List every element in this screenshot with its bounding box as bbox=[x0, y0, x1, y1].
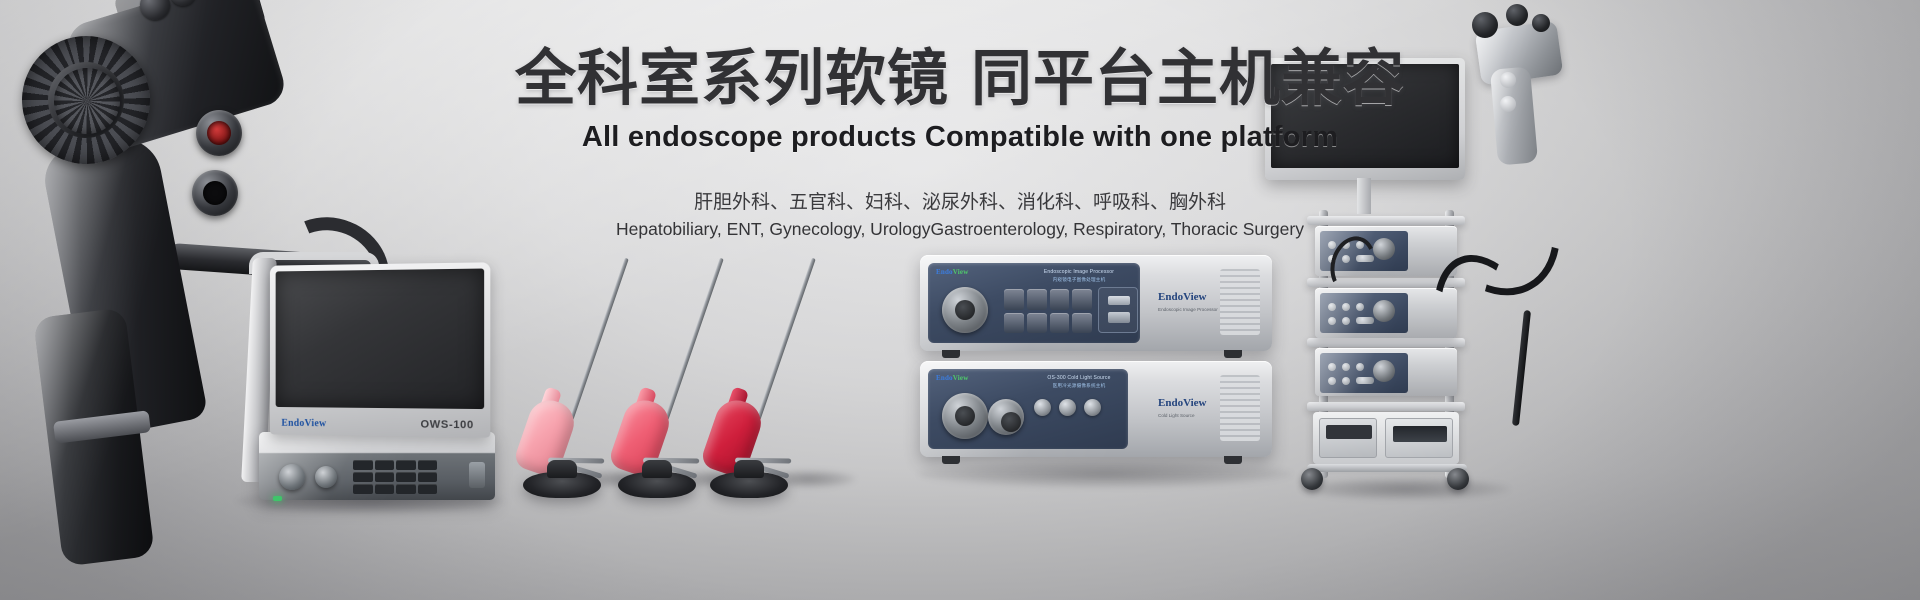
endoscope-knob-3 bbox=[1532, 14, 1550, 32]
processor-main-dial bbox=[942, 287, 988, 333]
processor-stack: EndoView Endoscopic Image Processor 内窥镜电… bbox=[920, 255, 1280, 475]
brand-endo-text: Endo bbox=[936, 268, 953, 276]
light-source-brightness-dial bbox=[988, 399, 1024, 435]
light-source-vent-grille bbox=[1220, 375, 1260, 441]
image-processor-unit: EndoView Endoscopic Image Processor 内窥镜电… bbox=[920, 255, 1272, 351]
instrument-display-stand bbox=[710, 472, 788, 498]
processor-panel-title-cn: 内窥镜电子图像处理主机 bbox=[1024, 277, 1134, 284]
departments-english: Hepatobiliary, ENT, Gynecology, UrologyG… bbox=[0, 219, 1920, 240]
tower-caster-left bbox=[1301, 468, 1323, 490]
tower-unit-3-dial bbox=[1373, 360, 1395, 382]
light-source-side-subtitle: Cold Light Source bbox=[1158, 413, 1195, 420]
headline-part-1: 全科室系列软镜 bbox=[515, 44, 949, 112]
workstation-brand-logo: EndoView bbox=[281, 418, 326, 429]
endoscope-knob-1 bbox=[1472, 12, 1498, 38]
page-subtitle: All endoscope products Compatible with o… bbox=[0, 121, 1920, 154]
departments-chinese: 肝胆外科、五官科、妇科、泌尿外科、消化科、呼吸科、胸外科 bbox=[0, 187, 1920, 214]
light-source-panel-title-cn: 医用冷光源摄像系统主机 bbox=[1024, 383, 1134, 390]
workstation-model-label: OWS-100 bbox=[420, 419, 473, 432]
instrument-display-stand bbox=[523, 472, 601, 498]
light-source-unit: EndoView OS-300 Cold Light Source 医用冷光源摄… bbox=[920, 361, 1272, 457]
endoscope-knob-2 bbox=[1506, 4, 1528, 26]
headline-part-2: 同平台主机兼容 bbox=[971, 44, 1405, 112]
light-source-button-row bbox=[1034, 399, 1101, 416]
page-title: 全科室系列软镜同平台主机兼容 bbox=[0, 46, 1920, 112]
workstation-knob-1 bbox=[279, 464, 305, 490]
endoscopy-workstation-ows100: EndoView OWS-100 bbox=[235, 250, 495, 500]
light-source-front-panel: EndoView OS-300 Cold Light Source 医用冷光源摄… bbox=[928, 369, 1128, 449]
workstation-keypad bbox=[353, 460, 437, 494]
processor-side-subtitle: Endoscopic Image Processor bbox=[1158, 307, 1218, 314]
instrument-display-stand bbox=[618, 472, 696, 498]
light-source-panel-title: OS-300 Cold Light Source 医用冷光源摄像系统主机 bbox=[1024, 375, 1134, 389]
processor-panel-title: Endoscopic Image Processor 内窥镜电子图像处理主机 bbox=[1024, 269, 1134, 283]
processor-brand-logo: EndoView bbox=[936, 268, 968, 276]
processor-port-bay bbox=[1098, 287, 1138, 333]
banner-copy: 全科室系列软镜同平台主机兼容 All endoscope products Co… bbox=[0, 46, 1920, 240]
processor-side-brand: EndoView bbox=[1158, 291, 1207, 303]
tower-bottom-device-left bbox=[1319, 418, 1377, 458]
workstation-monitor: EndoView OWS-100 bbox=[270, 262, 490, 437]
workstation-screen bbox=[276, 269, 485, 410]
light-source-feet bbox=[942, 456, 1242, 464]
laparoscopic-instrument-red bbox=[692, 250, 832, 510]
processor-vent-grille bbox=[1220, 269, 1260, 335]
light-source-brand-logo: EndoView bbox=[936, 374, 968, 382]
light-source-panel-title-en: OS-300 Cold Light Source bbox=[1024, 375, 1134, 383]
processor-right-side: EndoView Endoscopic Image Processor bbox=[1154, 265, 1262, 341]
light-source-right-side: EndoView Cold Light Source bbox=[1154, 371, 1262, 447]
processor-button-grid bbox=[1004, 289, 1092, 333]
brand-view-text: View bbox=[953, 268, 969, 276]
endoscope-cord-segment-2 bbox=[1409, 237, 1586, 464]
banner-stage: EndoView OWS-100 EndoView Endoscopi bbox=[0, 0, 1920, 600]
processor-panel-title-en: Endoscopic Image Processor bbox=[1024, 269, 1134, 277]
tower-unit-2-dial bbox=[1373, 300, 1395, 322]
workstation-side-button bbox=[469, 462, 485, 488]
light-source-power-dial bbox=[942, 393, 988, 439]
processor-feet bbox=[942, 350, 1242, 358]
tower-unit-1-dial bbox=[1373, 238, 1395, 260]
processor-front-panel: EndoView Endoscopic Image Processor 内窥镜电… bbox=[928, 263, 1140, 343]
brand-view-text: View bbox=[305, 418, 327, 429]
instrument-shaft bbox=[692, 250, 816, 426]
workstation-power-led bbox=[273, 496, 282, 501]
brand-endo-text: Endo bbox=[281, 418, 304, 429]
light-source-side-brand: EndoView bbox=[1158, 397, 1207, 409]
brand-view-text: View bbox=[953, 374, 969, 382]
brand-endo-text: Endo bbox=[936, 374, 953, 382]
workstation-knob-2 bbox=[315, 466, 337, 488]
